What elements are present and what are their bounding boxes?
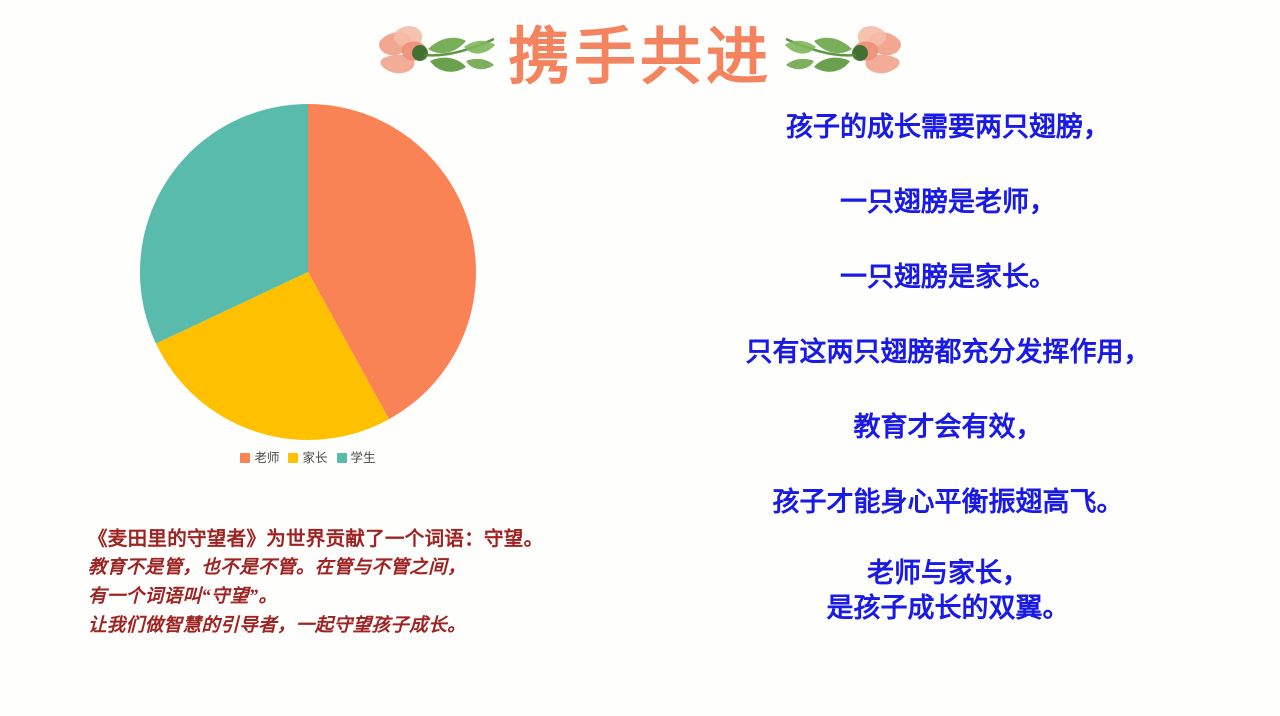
legend-item-老师[interactable]: 老师	[240, 452, 279, 465]
poem-line: 只有这两只翅膀都充分发挥作用，	[640, 337, 1256, 368]
legend-label: 家长	[302, 452, 327, 465]
poem-line: 孩子才能身心平衡振翅高飞。	[640, 487, 1256, 518]
poem-spacer	[640, 218, 1256, 262]
note-lead-line: 《麦田里的守望者》为世界贡献了一个词语：守望。	[88, 524, 648, 554]
note-line: 教育不是管，也不是不管。在管与不管之间，	[88, 554, 648, 583]
poem-line: 一只翅膀是老师，	[640, 187, 1256, 218]
note-block: 《麦田里的守望者》为世界贡献了一个词语：守望。 教育不是管，也不是不管。在管与不…	[88, 524, 648, 641]
legend-label: 老师	[254, 452, 279, 465]
legend-label: 学生	[351, 452, 376, 465]
legend-item-家长[interactable]: 家长	[288, 452, 327, 465]
poem-line: 孩子的成长需要两只翅膀，	[640, 112, 1256, 143]
pie-slices	[140, 104, 476, 440]
poem-line: 教育才会有效，	[640, 412, 1256, 443]
chart-legend: 老师家长学生	[108, 452, 508, 465]
poem-block: 孩子的成长需要两只翅膀， 一只翅膀是老师， 一只翅膀是家长。 只有这两只翅膀都充…	[640, 112, 1256, 624]
floral-branch-left-icon	[358, 15, 498, 101]
poem-closing-pair: 老师与家长， 是孩子成长的双翼。	[640, 558, 1256, 624]
note-line: 让我们做智慧的引导者，一起守望孩子成长。	[88, 612, 648, 641]
poem-line: 是孩子成长的双翼。	[640, 593, 1256, 624]
poem-spacer	[640, 143, 1256, 187]
legend-item-学生[interactable]: 学生	[337, 452, 376, 465]
poem-spacer	[640, 518, 1256, 558]
pie-chart	[140, 104, 476, 440]
slide-canvas: 携手共进 老师家长学生 《麦田里的守望者》为	[0, 0, 1280, 716]
poem-spacer	[640, 443, 1256, 487]
legend-swatch-icon	[288, 453, 298, 463]
floral-branch-right-icon	[782, 15, 922, 101]
poem-spacer	[640, 293, 1256, 337]
legend-swatch-icon	[240, 453, 250, 463]
poem-spacer	[640, 368, 1256, 412]
pie-chart-svg	[140, 104, 476, 440]
page-title: 携手共进	[498, 27, 782, 89]
slide-title-band: 携手共进	[0, 8, 1280, 108]
pie-chart-block: 老师家长学生	[108, 104, 508, 494]
poem-line: 老师与家长，	[640, 558, 1256, 589]
legend-swatch-icon	[337, 453, 347, 463]
note-line: 有一个词语叫“守望”。	[88, 583, 648, 612]
poem-line: 一只翅膀是家长。	[640, 262, 1256, 293]
